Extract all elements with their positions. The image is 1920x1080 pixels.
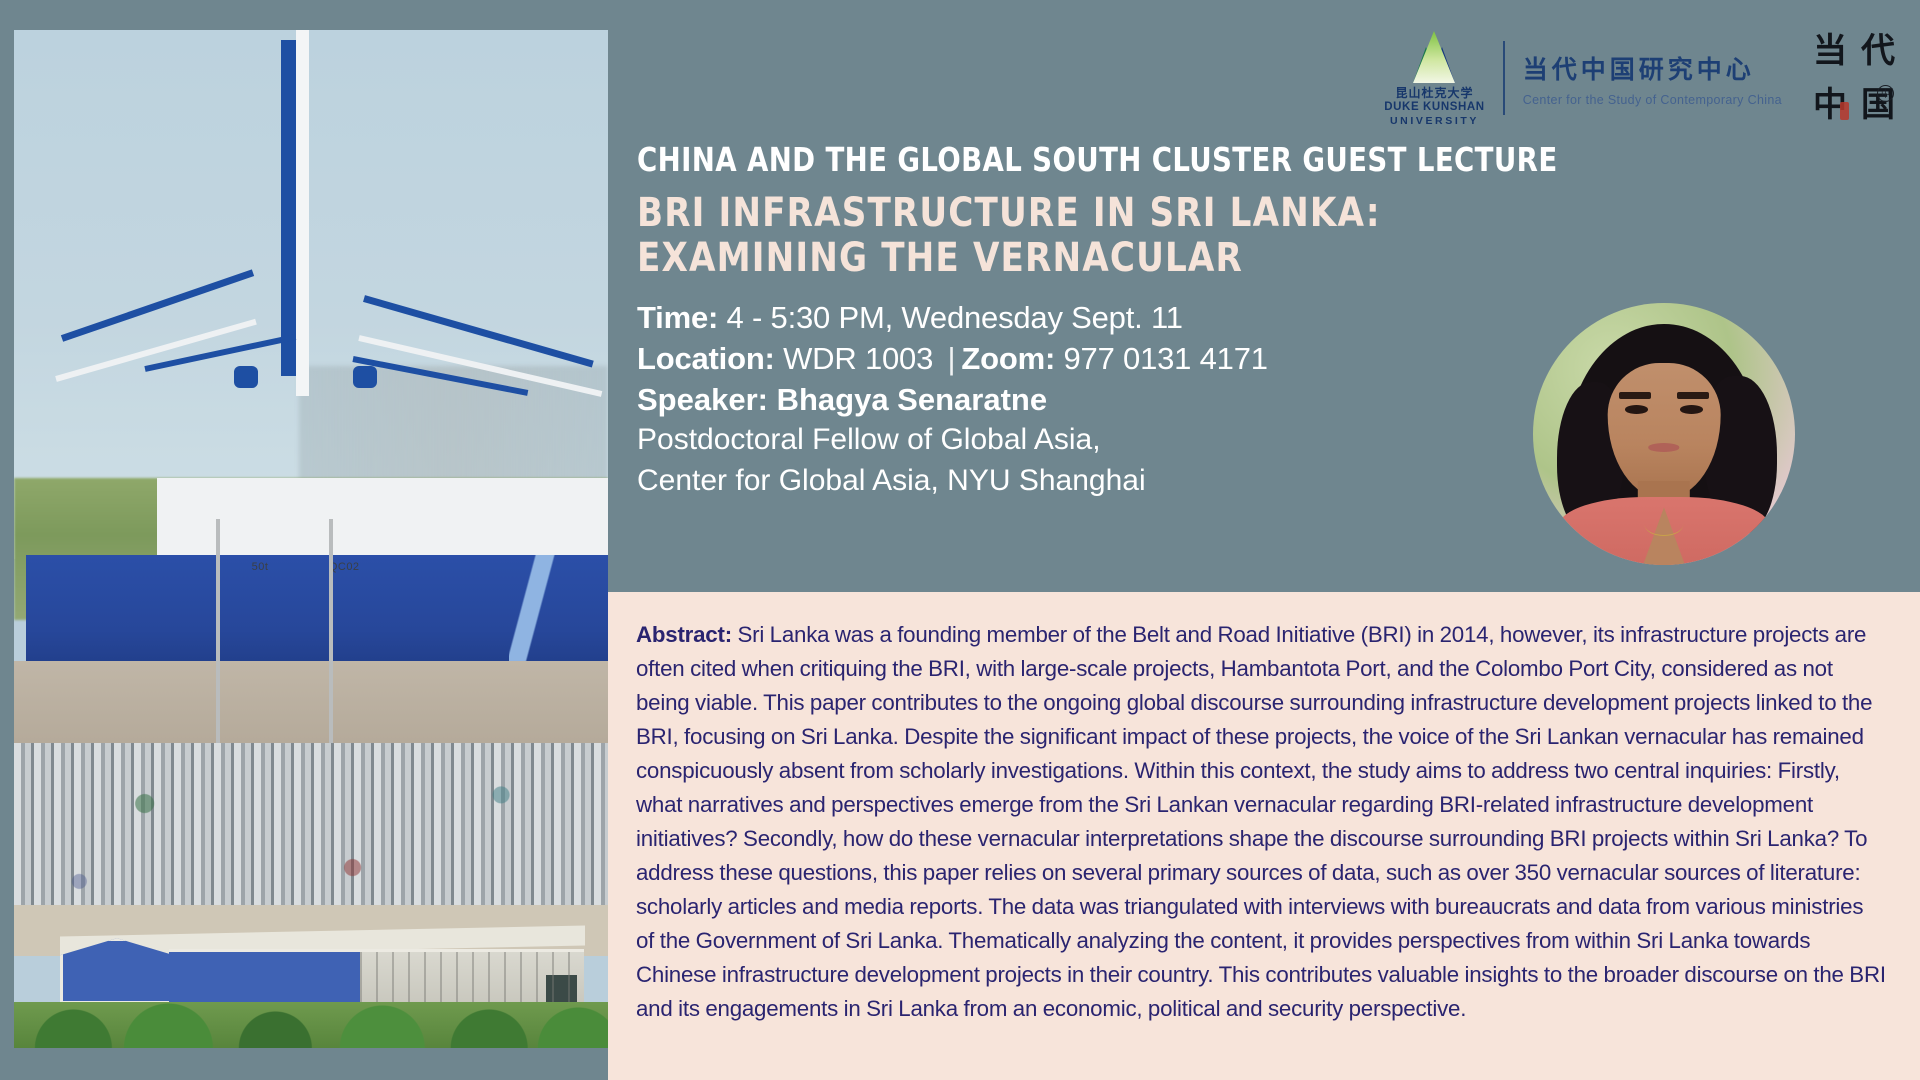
cscc-english-name: Center for the Study of Contemporary Chi… (1523, 93, 1782, 107)
building-office-block (169, 949, 366, 1006)
title-line-1: BRI INFRASTRUCTURE IN SRI LANKA: (637, 191, 1473, 236)
ship-marking-50t: 50t (252, 561, 269, 573)
affiliation-line-2: Center for Global Asia, NYU Shanghai (637, 461, 1517, 502)
cscc-chinese-name: 当代中国研究中心 (1523, 50, 1782, 86)
port-photo-content: 50t QC02 (14, 30, 608, 1048)
seal-char-4: 国 (1854, 78, 1902, 132)
portrait-brow-left (1619, 392, 1650, 399)
crane-mast-upper (296, 30, 309, 396)
dku-mountain-mark-icon (1393, 29, 1475, 85)
title-line-2: EXAMINING THE VERNACULAR (637, 236, 1473, 281)
zoom-label: Zoom: (961, 341, 1055, 376)
location-zoom-separator: | (942, 341, 962, 376)
seal-char-1: 当 (1806, 24, 1854, 78)
abstract-label: Abstract: (636, 622, 732, 647)
zoom-value: 977 0131 4171 (1055, 341, 1268, 376)
duke-kunshan-university-logo: 昆山杜克大学 DUKE KUNSHAN UNIVERSITY (1384, 29, 1484, 127)
location-value: WDR 1003 (775, 341, 942, 376)
affiliation-line-1: Postdoctoral Fellow of Global Asia, (637, 420, 1517, 461)
seal-mark-zhong: 中 (1877, 85, 1894, 102)
speaker-portrait (1533, 303, 1795, 565)
lecture-series-kicker: CHINA AND THE GLOBAL SOUTH CLUSTER GUEST… (637, 140, 1455, 179)
portrait-necklace (1644, 513, 1683, 537)
logo-divider (1503, 41, 1505, 115)
time-label: Time: (637, 300, 718, 335)
logo-bar: 昆山杜克大学 DUKE KUNSHAN UNIVERSITY 当代中国研究中心 … (1384, 24, 1902, 132)
speaker-row: Speaker: Bhagya Senaratne (637, 379, 1517, 420)
abstract-body: Sri Lanka was a founding member of the B… (636, 622, 1886, 1021)
abstract-text: Abstract: Sri Lanka was a founding membe… (636, 618, 1886, 1026)
chinese-calligraphy-seal: 当 代 中 国 中 (1806, 24, 1902, 132)
vehicle-storage-lot (14, 743, 608, 916)
page-title: BRI INFRASTRUCTURE IN SRI LANKA: EXAMINI… (637, 191, 1473, 281)
crane-apex-right (353, 366, 377, 388)
event-poster: 50t QC02 (0, 0, 1920, 1080)
ship-marking-qc02: QC02 (329, 561, 360, 573)
foreground-shrubs (14, 1002, 608, 1048)
cscc-logo: 当代中国研究中心 Center for the Study of Contemp… (1523, 50, 1782, 107)
location-label: Location: (637, 341, 775, 376)
seal-characters: 当 代 中 国 (1806, 24, 1902, 132)
car-carrier-ship: 50t QC02 (14, 478, 608, 682)
dku-english-name-line2: UNIVERSITY (1390, 115, 1479, 128)
time-value: 4 - 5:30 PM, Wednesday Sept. 11 (718, 300, 1183, 335)
event-details: Time: 4 - 5:30 PM, Wednesday Sept. 11 Lo… (637, 297, 1517, 502)
seal-red-accent (1840, 102, 1849, 120)
seal-char-2: 代 (1854, 24, 1902, 78)
hambantota-port-photo: 50t QC02 (14, 30, 608, 1048)
crane-apex-left (234, 366, 258, 388)
ship-superstructure (157, 478, 608, 564)
building-warehouse (360, 949, 584, 1006)
header-text-block: CHINA AND THE GLOBAL SOUTH CLUSTER GUEST… (637, 140, 1517, 501)
location-row: Location: WDR 1003 |Zoom: 977 0131 4171 (637, 338, 1517, 379)
dku-chinese-name: 昆山杜克大学 (1395, 87, 1473, 101)
time-row: Time: 4 - 5:30 PM, Wednesday Sept. 11 (637, 297, 1517, 338)
abstract-panel: Abstract: Sri Lanka was a founding membe… (608, 592, 1920, 1080)
portrait-brow-right (1677, 392, 1708, 399)
dku-english-name-line1: DUKE KUNSHAN (1384, 101, 1484, 115)
